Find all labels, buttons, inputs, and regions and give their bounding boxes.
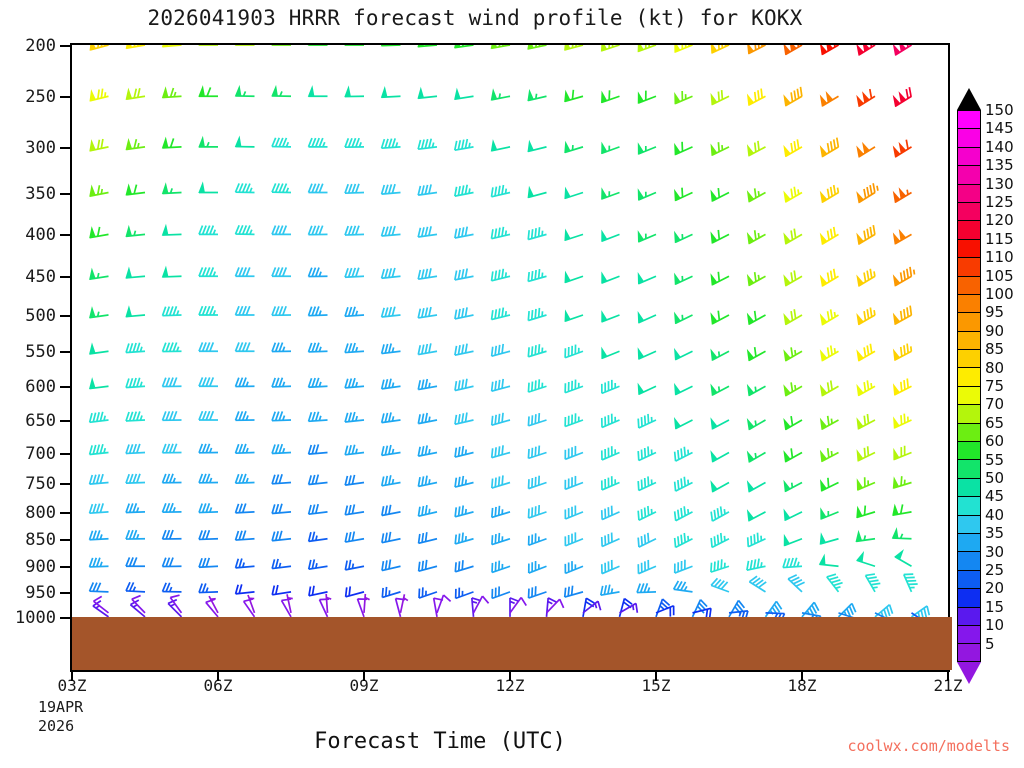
wind-barb [272,267,291,276]
colorbar-tick-label: 60 [985,432,1004,450]
wind-barb [199,226,218,235]
wind-barb [492,344,510,356]
colorbar-tick-label: 85 [985,340,1004,358]
wind-barb [675,45,693,52]
wind-barb [455,268,474,279]
y-tick-label: 450 [0,267,56,287]
y-tick-label: 650 [0,411,56,431]
wind-barb [309,559,328,569]
wind-barb [857,553,875,567]
wind-barb [638,560,656,574]
wind-barb [565,90,583,102]
wind-barb [236,342,255,351]
wind-barb [163,306,182,315]
wind-barb [199,306,218,315]
wind-barb [528,308,546,321]
wind-barb [675,350,693,360]
wind-barb [236,503,255,512]
wind-barb [418,45,437,47]
wind-barb [857,269,875,286]
colorbar-cell[interactable] [957,312,981,330]
wind-barb [565,230,583,240]
wind-barb [236,531,255,541]
wind-barb [163,138,182,147]
wind-barb [821,309,839,324]
colorbar-cell[interactable] [957,367,981,385]
wind-barb [309,87,328,96]
wind-barb [857,183,878,202]
wind-barb [784,510,802,520]
colorbar-cell[interactable] [957,257,981,275]
colorbar-tick-label: 80 [985,359,1004,377]
wind-barb [382,412,401,422]
colorbar-cell[interactable] [957,147,981,165]
wind-barb [236,225,255,234]
wind-barb [784,271,802,286]
wind-barb [126,88,145,99]
wind-barb [382,226,401,236]
wind-barb [894,87,912,106]
wind-barb [602,90,620,102]
wind-barb [492,561,510,573]
wind-barb [418,139,437,150]
wind-barb [529,533,547,545]
wind-barb [455,185,474,196]
wind-barb [345,184,364,193]
wind-barb [602,312,620,322]
wind-barb [90,530,109,539]
wind-barb [345,504,364,514]
wind-barb [821,346,839,361]
wind-barb [126,139,145,149]
wind-barb [345,560,364,570]
y-tick-label: 850 [0,530,56,550]
wind-barb [711,350,729,360]
wind-barb [455,307,474,319]
wind-barb [857,45,875,55]
wind-barb [272,474,291,484]
colorbar-tick-label: 115 [985,230,1014,248]
wind-barb [565,446,583,459]
wind-barb [784,448,802,461]
wind-barb [272,559,291,569]
wind-barb [894,189,912,202]
wind-barb [492,379,510,391]
wind-barb [272,444,291,453]
wind-barb [602,348,620,358]
colorbar-tick-label: 140 [985,138,1014,156]
wind-barb [163,226,182,235]
wind-barb [528,379,546,392]
wind-barb [638,533,656,547]
wind-barb [784,481,802,491]
x-tick-mark [655,672,657,681]
wind-barb [199,267,218,276]
wind-barb [675,232,693,242]
colorbar-tick-label: 135 [985,156,1014,174]
colorbar-tick-label: 75 [985,377,1004,395]
colorbar-cell[interactable] [957,643,981,661]
wind-barb [711,452,729,462]
colorbar-cell[interactable] [957,386,981,404]
wind-barb [748,347,766,360]
colorbar-tick-label: 150 [985,101,1014,119]
wind-barb [382,475,401,486]
wind-barb [236,87,255,97]
wind-barb [821,478,839,491]
wind-barb [455,505,473,516]
wind-barb [126,307,145,317]
wind-barb [345,87,364,96]
wind-barb [638,91,656,103]
wind-barb [199,87,218,96]
wind-barb [345,307,364,317]
wind-barb [894,344,912,361]
wind-barb [382,138,401,148]
wind-barb [784,87,802,106]
wind-barb [857,506,875,518]
wind-barb [601,45,619,51]
wind-barb [565,188,583,198]
wind-barb [455,446,473,457]
colorbar-cell[interactable] [957,496,981,514]
wind-barb [309,138,328,147]
wind-barb [90,269,109,279]
wind-barb [382,445,401,455]
wind-barb [565,380,583,393]
wind-barb [236,306,255,315]
wind-barb [163,444,182,453]
colorbar-cell[interactable] [957,165,981,183]
wind-barb [90,139,109,151]
wind-barb [784,309,802,324]
colorbar-tick-label: 105 [985,267,1014,285]
wind-barb [857,225,875,244]
colorbar[interactable] [957,110,981,662]
wind-barb [748,188,766,201]
wind-barb [711,559,729,572]
wind-barb [788,575,804,592]
y-tick-label: 950 [0,583,56,603]
colorbar-cell[interactable] [957,110,981,128]
colorbar-cell[interactable] [957,478,981,496]
colorbar-tick-label: 125 [985,193,1014,211]
wind-barb [565,532,583,546]
wind-barb [163,503,182,512]
y-tick-label: 600 [0,377,56,397]
wind-barb [857,307,875,324]
wind-barb [418,476,437,487]
wind-barb [856,532,875,542]
wind-barb [418,268,437,279]
wind-barb [675,533,693,547]
wind-barb [602,273,620,283]
wind-barb [419,532,437,543]
colorbar-cell[interactable] [957,202,981,220]
x-tick-mark [801,672,803,681]
wind-barb [821,93,839,106]
wind-barb [90,227,109,238]
wind-barb [272,504,291,514]
wind-barb [163,378,182,387]
wind-barb [827,574,843,592]
wind-barb [711,230,729,243]
wind-barb [236,378,255,387]
wind-barb [126,45,145,48]
wind-barb [418,379,437,390]
colorbar-cell[interactable] [957,349,981,367]
wind-barb [675,274,693,284]
wind-barb [638,190,656,200]
wind-barb [491,141,510,151]
wind-barb [638,313,656,323]
wind-barb [638,232,656,242]
y-tick-label: 350 [0,184,56,204]
wind-barb [272,87,291,97]
colorbar-tick-label: 10 [985,616,1004,634]
wind-barb [163,558,182,567]
wind-barb [163,267,182,276]
y-tick-mark [60,512,70,514]
colorbar-cell[interactable] [957,459,981,477]
wind-barb [766,601,782,617]
wind-barb [126,343,145,353]
wind-barb [565,142,583,152]
wind-barb [90,379,109,389]
wind-barb [199,530,218,539]
watermark-link[interactable]: coolwx.com/modelts [847,737,1010,755]
wind-barb [345,445,364,455]
y-tick-mark [60,592,70,594]
wind-barb [345,138,364,147]
wind-barb [529,476,547,489]
wind-barb [565,311,583,321]
colorbar-cell[interactable] [957,294,981,312]
wind-barb [236,444,255,453]
wind-barb [90,344,109,354]
colorbar-tick-label: 25 [985,561,1004,579]
colorbar-tick-label: 65 [985,414,1004,432]
wind-barb [126,530,145,539]
wind-barb [821,381,839,396]
wind-barb [893,476,911,488]
colorbar-tick-label: 145 [985,119,1014,137]
colorbar-tick-label: 30 [985,543,1004,561]
y-tick-mark [60,193,70,195]
wind-barb [711,45,729,53]
colorbar-cell[interactable] [957,588,981,606]
colorbar-cell[interactable] [957,276,981,294]
wind-barb [638,274,656,284]
wind-barb [309,475,328,485]
wind-barb [90,474,109,484]
wind-barb [382,343,401,353]
wind-barb [821,227,839,244]
wind-barb [345,412,364,422]
colorbar-cell[interactable] [957,515,981,533]
wind-barb [894,140,912,157]
colorbar-cell[interactable] [957,625,981,643]
wind-barb [236,474,255,483]
wind-barb [455,139,474,150]
wind-barb [345,268,364,278]
wind-barb [602,231,620,241]
colorbar-cell[interactable] [957,423,981,441]
wind-barb [364,594,370,613]
wind-barb [565,476,583,489]
wind-barb [126,378,145,388]
wind-barb [675,477,693,491]
wind-barb [126,444,145,454]
wind-barb [90,412,109,423]
colorbar-cell[interactable] [957,533,981,551]
wind-barb [638,349,656,359]
wind-barb [309,444,328,454]
wind-barb [382,587,400,598]
wind-barb [309,532,328,542]
wind-barb [748,482,766,492]
wind-barb [492,445,510,457]
colorbar-tick-label: 20 [985,579,1004,597]
wind-barb [418,89,437,99]
wind-barb [638,506,656,520]
wind-barb [675,560,693,573]
wind-barb [382,268,401,278]
wind-barb [163,583,182,592]
wind-barb-field [72,45,948,670]
wind-barb [857,89,875,106]
wind-barb [565,345,583,358]
wind-barb [857,414,875,429]
wind-barb [236,584,255,594]
wind-barb [90,444,109,454]
wind-barb [747,559,766,571]
colorbar-tick-label: 100 [985,285,1014,303]
wind-barb [638,144,656,154]
wind-barb [602,560,620,574]
wind-barb [638,414,656,428]
colorbar-tick-label: 120 [985,211,1014,229]
wind-barb [904,574,918,592]
wind-barb [675,419,693,429]
wind-barb [711,272,729,285]
wind-barb [529,505,547,518]
x-tick-mark [363,672,365,681]
wind-barb [236,267,255,276]
colorbar-cell[interactable] [957,570,981,588]
wind-barb [199,377,218,386]
colorbar-cell[interactable] [957,404,981,422]
colorbar-tick-label: 90 [985,322,1004,340]
wind-barb [894,231,912,244]
wind-barb [419,560,437,571]
wind-barb [199,444,218,453]
wind-barb [90,558,109,567]
wind-barb [419,587,437,598]
wind-barb [418,226,437,237]
wind-barb [711,578,729,592]
wind-barb [820,534,838,544]
colorbar-tick-label: 45 [985,487,1004,505]
wind-barb [236,411,255,420]
wind-barb [455,379,474,391]
wind-barb [894,306,912,325]
colorbar-cell[interactable] [957,220,981,238]
wind-barb [90,89,108,101]
y-tick-label: 1000 [0,608,56,628]
wind-barb [729,600,744,616]
wind-barb [236,183,255,192]
y-tick-mark [60,234,70,236]
wind-barb [711,90,729,105]
colorbar-cell[interactable] [957,239,981,257]
date-year: 2026 [38,717,83,736]
y-tick-label: 500 [0,306,56,326]
wind-barb [675,506,693,521]
wind-barb [326,594,331,613]
y-tick-mark [60,617,70,619]
wind-barb [674,581,693,592]
y-tick-mark [60,420,70,422]
wind-barb [784,229,802,244]
wind-barb [90,45,109,50]
wind-barb [528,142,546,152]
wind-barb [602,414,620,428]
wind-barb [784,416,802,429]
wind-barb [455,344,474,356]
wind-barb [510,598,526,613]
wind-barb [675,313,693,323]
colorbar-cell[interactable] [957,184,981,202]
x-axis-title: Forecast Time (UTC) [180,729,700,754]
wind-barb [565,586,583,597]
wind-barb [491,227,510,239]
wind-barb [309,586,328,596]
wind-barb [675,142,693,155]
wind-barb [126,503,145,512]
y-tick-mark [60,45,70,47]
wind-barb [492,475,510,488]
colorbar-tick-label: 35 [985,524,1004,542]
y-tick-label: 750 [0,474,56,494]
colorbar-cell[interactable] [957,331,981,349]
wind-barb [345,475,364,485]
wind-barb [565,505,583,519]
colorbar-cell[interactable] [957,607,981,625]
wind-barb [857,344,875,361]
wind-barb [748,452,766,462]
wind-barb [895,551,911,567]
wind-barb [528,344,546,357]
wind-barb [90,503,109,513]
colorbar-cell[interactable] [957,128,981,146]
wind-barb [637,583,656,592]
wind-barb [821,45,839,55]
wind-barb [784,187,802,202]
y-tick-mark [60,386,70,388]
colorbar-cell[interactable] [957,551,981,569]
wind-barb [272,226,291,235]
wind-barb [748,45,769,54]
date-day: 19APR [38,698,83,717]
terrain-band [72,617,952,670]
wind-barb [382,379,401,389]
colorbar-tick-label: 15 [985,598,1004,616]
wind-barb [820,555,839,566]
wind-barb [418,307,437,318]
y-tick-mark [60,566,70,568]
colorbar-cell[interactable] [957,441,981,459]
